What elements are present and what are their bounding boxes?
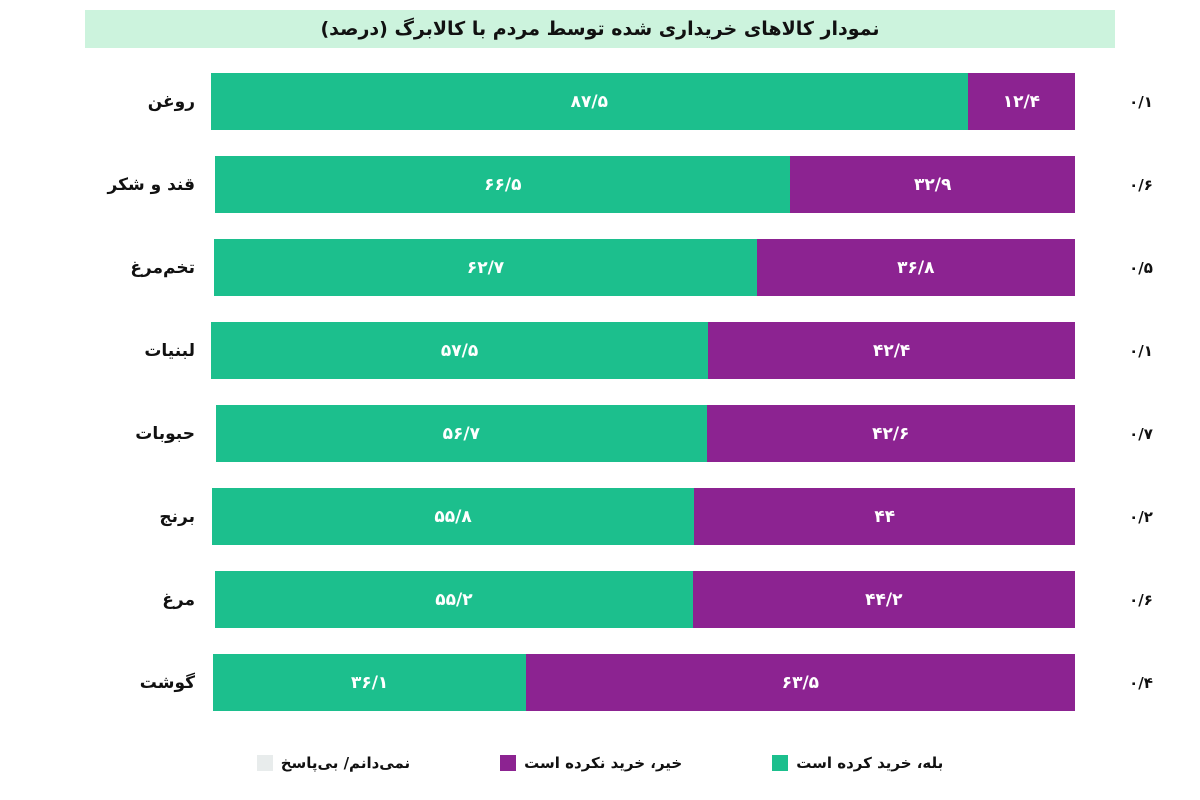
category-label: روغن [75,92,195,112]
bar-track: ۴۴۵۵/۸ [210,488,1075,545]
bar-track: ۱۲/۴۸۷/۵ [210,73,1075,130]
chart-row: روغن۱۲/۴۸۷/۵۰/۱ [0,60,1200,143]
bar-value-no: ۳۶/۸ [897,258,934,278]
bar-segment-no: ۳۶/۸ [757,239,1075,296]
legend-swatch-icon [257,755,273,771]
bar-value-yes: ۵۵/۲ [435,590,472,610]
bar-value-no: ۶۳/۵ [782,673,819,693]
chart-row: تخم‌مرغ۳۶/۸۶۲/۷۰/۵ [0,226,1200,309]
bar-value-yes: ۶۶/۵ [484,175,521,195]
page-title: نمودار کالاهای خریداری شده توسط مردم با … [320,18,879,40]
legend-label: بله، خرید کرده است [796,754,943,772]
bar-value-na: ۰/۴ [1082,674,1200,692]
bar-track: ۴۲/۶۵۶/۷ [210,405,1075,462]
chart-row: قند و شکر۳۲/۹۶۶/۵۰/۶ [0,143,1200,226]
category-label: لبنیات [75,341,195,361]
bar-value-na: ۰/۶ [1082,176,1200,194]
legend-item-no[interactable]: خیر، خرید نکرده است [500,754,682,772]
bar-track: ۴۲/۴۵۷/۵ [210,322,1075,379]
bar-value-no: ۴۴/۲ [865,590,902,610]
category-label: برنج [75,507,195,527]
bar-value-na: ۰/۷ [1082,425,1200,443]
chart-row: مرغ۴۴/۲۵۵/۲۰/۶ [0,558,1200,641]
chart-row: گوشت۶۳/۵۳۶/۱۰/۴ [0,641,1200,724]
bar-value-no: ۳۲/۹ [914,175,951,195]
bar-segment-yes: ۶۶/۵ [215,156,790,213]
chart-row: برنج۴۴۵۵/۸۰/۲ [0,475,1200,558]
bar-track: ۴۴/۲۵۵/۲ [210,571,1075,628]
category-label: حبوبات [75,424,195,444]
bar-value-no: ۱۲/۴ [1003,92,1040,112]
bar-value-yes: ۸۷/۵ [571,92,608,112]
chart-row: لبنیات۴۲/۴۵۷/۵۰/۱ [0,309,1200,392]
category-label: مرغ [75,590,195,610]
category-label: تخم‌مرغ [75,258,195,278]
chart-page: نمودار کالاهای خریداری شده توسط مردم با … [0,0,1200,800]
bar-segment-no: ۱۲/۴ [968,73,1075,130]
bar-track: ۳۲/۹۶۶/۵ [210,156,1075,213]
bar-value-yes: ۳۶/۱ [351,673,388,693]
bar-track: ۳۶/۸۶۲/۷ [210,239,1075,296]
bar-segment-no: ۶۳/۵ [526,654,1075,711]
bar-value-yes: ۵۶/۷ [443,424,480,444]
legend-swatch-icon [772,755,788,771]
bar-value-na: ۰/۲ [1082,508,1200,526]
legend-item-yes[interactable]: بله، خرید کرده است [772,754,943,772]
bar-segment-yes: ۸۷/۵ [211,73,968,130]
bar-track: ۶۳/۵۳۶/۱ [210,654,1075,711]
bar-segment-no: ۴۴/۲ [693,571,1075,628]
bar-value-no: ۴۲/۶ [872,424,909,444]
bar-segment-no: ۴۲/۶ [707,405,1075,462]
bar-segment-no: ۴۲/۴ [708,322,1075,379]
bar-segment-yes: ۵۶/۷ [216,405,706,462]
bar-segment-yes: ۳۶/۱ [213,654,525,711]
bar-value-yes: ۶۲/۷ [467,258,504,278]
category-label: قند و شکر [75,175,195,195]
bar-segment-no: ۳۲/۹ [790,156,1075,213]
bar-value-na: ۰/۵ [1082,259,1200,277]
bar-segment-yes: ۵۷/۵ [211,322,708,379]
bar-value-na: ۰/۶ [1082,591,1200,609]
stacked-bar-chart: روغن۱۲/۴۸۷/۵۰/۱قند و شکر۳۲/۹۶۶/۵۰/۶تخم‌م… [0,60,1200,715]
bar-value-na: ۰/۱ [1082,93,1200,111]
legend-swatch-icon [500,755,516,771]
bar-value-yes: ۵۵/۸ [434,507,471,527]
legend-item-na[interactable]: نمی‌دانم/ بی‌پاسخ [257,754,410,772]
bar-segment-yes: ۵۵/۸ [212,488,695,545]
bar-value-na: ۰/۱ [1082,342,1200,360]
legend-label: نمی‌دانم/ بی‌پاسخ [281,754,410,772]
bar-segment-yes: ۶۲/۷ [214,239,756,296]
chart-legend: بله، خرید کرده استخیر، خرید نکرده استنمی… [0,754,1200,772]
bar-value-no: ۴۲/۴ [873,341,910,361]
category-label: گوشت [75,673,195,693]
chart-title-band: نمودار کالاهای خریداری شده توسط مردم با … [85,10,1115,48]
bar-value-no: ۴۴ [874,507,895,527]
bar-value-yes: ۵۷/۵ [441,341,478,361]
bar-segment-no: ۴۴ [694,488,1075,545]
legend-label: خیر، خرید نکرده است [524,754,682,772]
bar-segment-yes: ۵۵/۲ [215,571,692,628]
chart-row: حبوبات۴۲/۶۵۶/۷۰/۷ [0,392,1200,475]
